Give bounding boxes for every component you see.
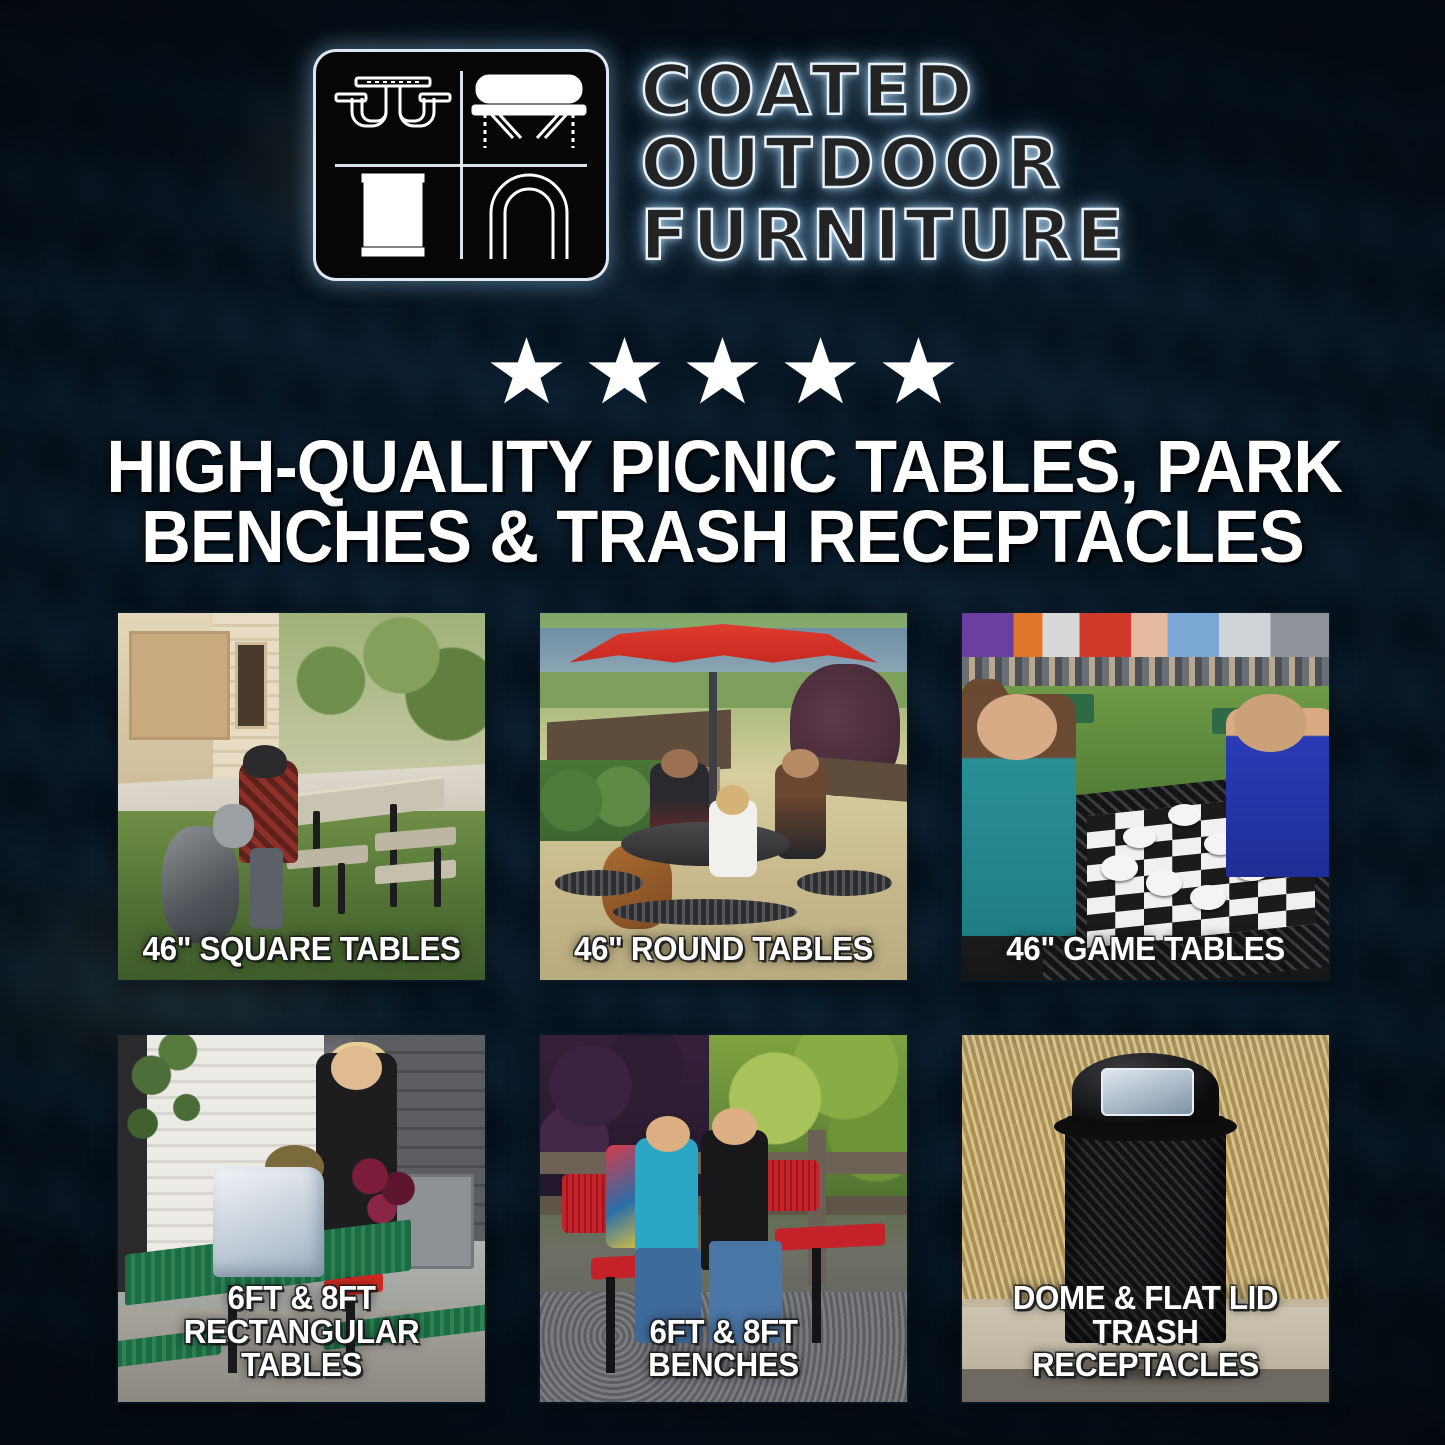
product-caption-rectangular-tables: 6FT & 8FT RECTANGULAR TABLES xyxy=(118,1281,485,1396)
logo-icon-grid xyxy=(325,61,597,269)
brand-wordmark: COATED OUTDOOR FURNITURE xyxy=(640,52,1128,276)
product-caption-square-tables: 46" SQUARE TABLES xyxy=(118,932,485,980)
caption-line-1: 6FT & 8FT xyxy=(135,1281,468,1315)
product-card-rectangular-tables[interactable]: 6FT & 8FT RECTANGULAR TABLES xyxy=(118,1035,485,1402)
trash-receptacle-icon xyxy=(325,165,461,269)
star-icon xyxy=(490,337,564,409)
caption-line-2: BENCHES xyxy=(557,1348,890,1382)
bench-table-side-icon xyxy=(461,61,597,165)
product-photo-game-tables xyxy=(962,613,1329,980)
star-rating xyxy=(0,337,1445,409)
caption-line-1: 46" ROUND TABLES xyxy=(557,932,890,966)
headline-line-2: BENCHES & TRASH RECEPTACLES xyxy=(106,502,1338,572)
star-icon xyxy=(588,337,662,409)
product-photo-round-tables xyxy=(540,613,907,980)
brand-logo-mark xyxy=(316,52,606,278)
caption-line-1: 6FT & 8FT xyxy=(557,1315,890,1349)
product-card-round-tables[interactable]: 46" ROUND TABLES xyxy=(540,613,907,980)
caption-line-2: TRASH RECEPTACLES xyxy=(979,1315,1312,1382)
product-caption-game-tables: 46" GAME TABLES xyxy=(962,932,1329,980)
page-headline: HIGH-QUALITY PICNIC TABLES, PARK BENCHES… xyxy=(0,432,1445,573)
product-card-benches[interactable]: 6FT & 8FT BENCHES xyxy=(540,1035,907,1402)
product-card-trash-receptacles[interactable]: DOME & FLAT LID TRASH RECEPTACLES xyxy=(962,1035,1329,1402)
product-card-game-tables[interactable]: 46" GAME TABLES xyxy=(962,613,1329,980)
brand-header: COATED OUTDOOR FURNITURE xyxy=(0,52,1445,278)
caption-line-2: RECTANGULAR TABLES xyxy=(135,1315,468,1382)
product-grid: 46" SQUARE TABLES 46" ROUND TAB xyxy=(118,613,1333,1402)
poster-canvas: COATED OUTDOOR FURNITURE HIGH-QUALITY PI… xyxy=(0,0,1445,1445)
caption-line-1: DOME & FLAT LID xyxy=(979,1281,1312,1315)
caption-line-1: 46" GAME TABLES xyxy=(979,932,1312,966)
star-icon xyxy=(686,337,760,409)
picnic-table-icon xyxy=(325,61,461,165)
headline-line-1: HIGH-QUALITY PICNIC TABLES, PARK xyxy=(106,432,1338,502)
star-icon xyxy=(784,337,858,409)
arch-bike-rack-icon xyxy=(461,165,597,269)
product-caption-round-tables: 46" ROUND TABLES xyxy=(540,932,907,980)
product-card-square-tables[interactable]: 46" SQUARE TABLES xyxy=(118,613,485,980)
brand-name-line-2: OUTDOOR xyxy=(640,131,1064,199)
brand-name-line-3: FURNITURE xyxy=(640,203,1128,271)
product-photo-square-tables xyxy=(118,613,485,980)
logo-grid-divider-horizontal xyxy=(335,164,587,167)
product-caption-trash-receptacles: DOME & FLAT LID TRASH RECEPTACLES xyxy=(962,1281,1329,1396)
product-caption-benches: 6FT & 8FT BENCHES xyxy=(540,1315,907,1396)
caption-line-1: 46" SQUARE TABLES xyxy=(135,932,468,966)
star-icon xyxy=(882,337,956,409)
brand-name-line-1: COATED xyxy=(640,58,977,126)
